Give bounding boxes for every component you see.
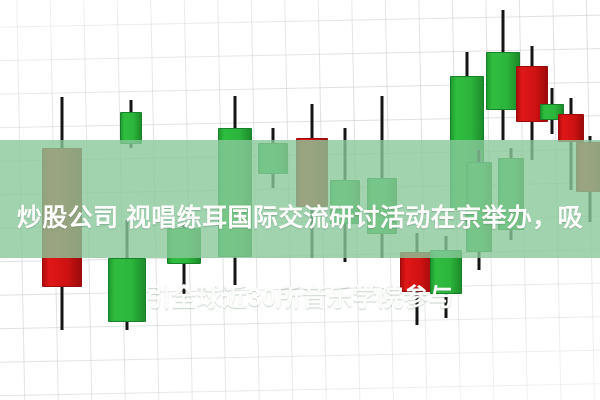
headline-line-2: 引全球近30所音乐学院参与 [0, 278, 600, 318]
headline-line-1: 炒股公司 视唱练耳国际交流研讨活动在京举办，吸 [0, 198, 600, 238]
news-thumbnail-image: 炒股公司 视唱练耳国际交流研讨活动在京举办，吸 引全球近30所音乐学院参与 [0, 0, 600, 400]
headline-text: 炒股公司 视唱练耳国际交流研讨活动在京举办，吸 引全球近30所音乐学院参与 [0, 158, 600, 358]
